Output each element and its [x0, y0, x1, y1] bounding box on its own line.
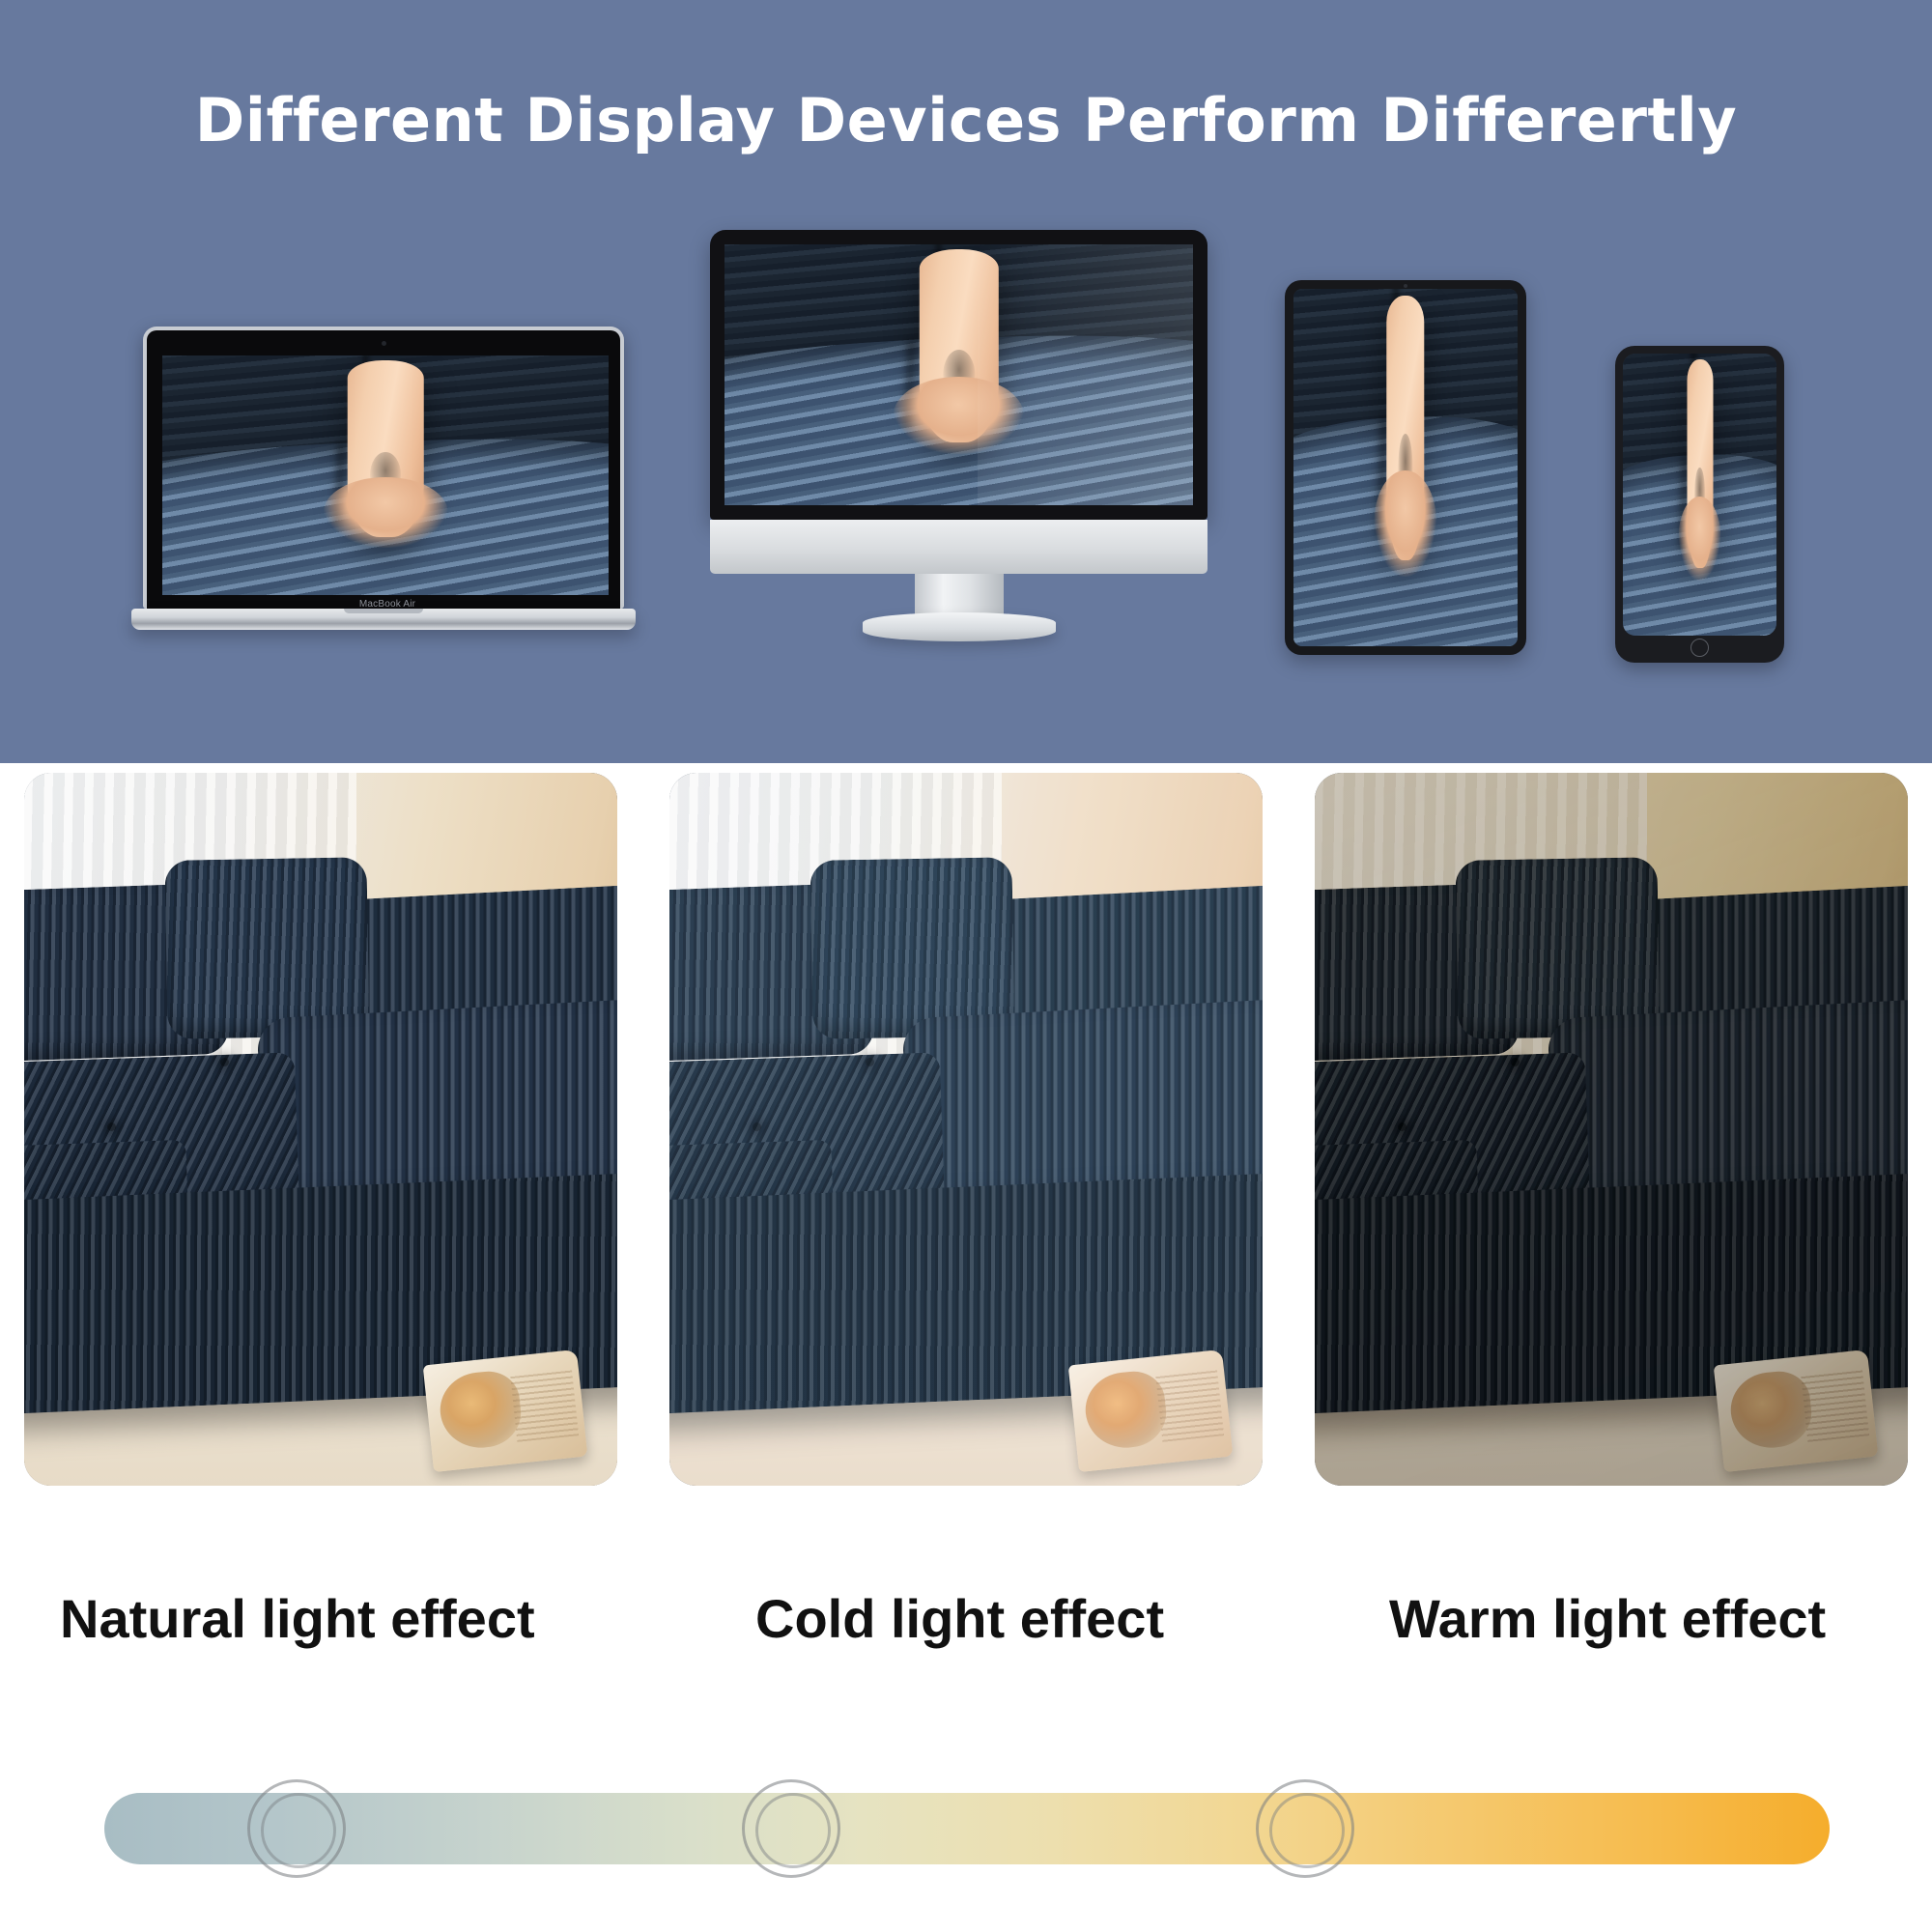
sofa-tuft [220, 1058, 229, 1066]
cushion-dent [1694, 468, 1705, 522]
comparison-card-warm [1315, 773, 1908, 1486]
product-photo-foot-on-sofa [162, 355, 609, 595]
sofa-back-cushion-mid [810, 857, 1015, 1038]
slider-knob-natural[interactable] [247, 1779, 346, 1878]
cushion-dent [370, 452, 400, 498]
magazine-prop [1067, 1350, 1232, 1472]
monitor-screen [724, 244, 1193, 505]
monitor-chin [710, 520, 1207, 574]
light-temperature-slider[interactable] [104, 1793, 1830, 1864]
sofa-photo-natural [24, 773, 617, 1486]
device-phone [1615, 346, 1784, 663]
sofa-tuft [866, 1058, 874, 1066]
monitor-bezel [710, 230, 1207, 520]
laptop-lid: MacBook Air [143, 327, 624, 609]
product-photo-foot-on-sofa [1623, 354, 1776, 636]
home-button-icon[interactable] [1690, 639, 1709, 657]
foot-photo [919, 249, 998, 442]
laptop-base [131, 609, 636, 630]
sofa-tuft [1511, 1058, 1520, 1066]
sofa-photo-warm [1315, 773, 1908, 1486]
product-photo-foot-on-sofa [1293, 289, 1518, 646]
sofa-tuft [1398, 1122, 1406, 1131]
foot-photo [1687, 359, 1713, 568]
tablet-bezel [1285, 280, 1526, 655]
magazine-prop [422, 1350, 586, 1472]
cushion-dent [1398, 434, 1413, 502]
phone-bezel [1615, 346, 1784, 663]
foot-photo [348, 360, 424, 538]
laptop-notch [344, 609, 423, 613]
sofa-tuft [107, 1122, 116, 1131]
tablet-screen [1293, 289, 1518, 646]
slider-knob-warm[interactable] [1256, 1779, 1354, 1878]
slider-knob-cold[interactable] [742, 1779, 840, 1878]
laptop-chin: MacBook Air [147, 595, 624, 609]
laptop-screen [162, 355, 609, 595]
comparison-card-cold [669, 773, 1263, 1486]
sofa-photo-cold [669, 773, 1263, 1486]
product-photo-foot-on-sofa [724, 244, 1193, 505]
sofa-back-cushion-mid [165, 857, 370, 1038]
page-title: Different Display Devices Perform Differ… [0, 85, 1932, 156]
caption-cold-light: Cold light effect [755, 1575, 1164, 1662]
device-laptop: MacBook Air [143, 327, 647, 645]
foot-photo [1386, 296, 1424, 560]
camera-icon [382, 341, 386, 346]
monitor-stand-base [863, 612, 1056, 641]
device-tablet [1285, 280, 1526, 655]
sofa-tuft [753, 1122, 761, 1131]
header-banner: Different Display Devices Perform Differ… [0, 0, 1932, 763]
phone-screen [1623, 354, 1776, 636]
laptop-brand-label: MacBook Air [359, 599, 415, 610]
magazine-prop [1713, 1350, 1877, 1472]
caption-natural-light: Natural light effect [60, 1575, 535, 1662]
comparison-card-natural [24, 773, 617, 1486]
sofa-back-cushion-mid [1456, 857, 1661, 1038]
cushion-dent [943, 350, 975, 400]
device-desktop-monitor [710, 230, 1207, 645]
camera-icon [1404, 284, 1407, 288]
caption-warm-light: Warm light effect [1389, 1575, 1826, 1662]
